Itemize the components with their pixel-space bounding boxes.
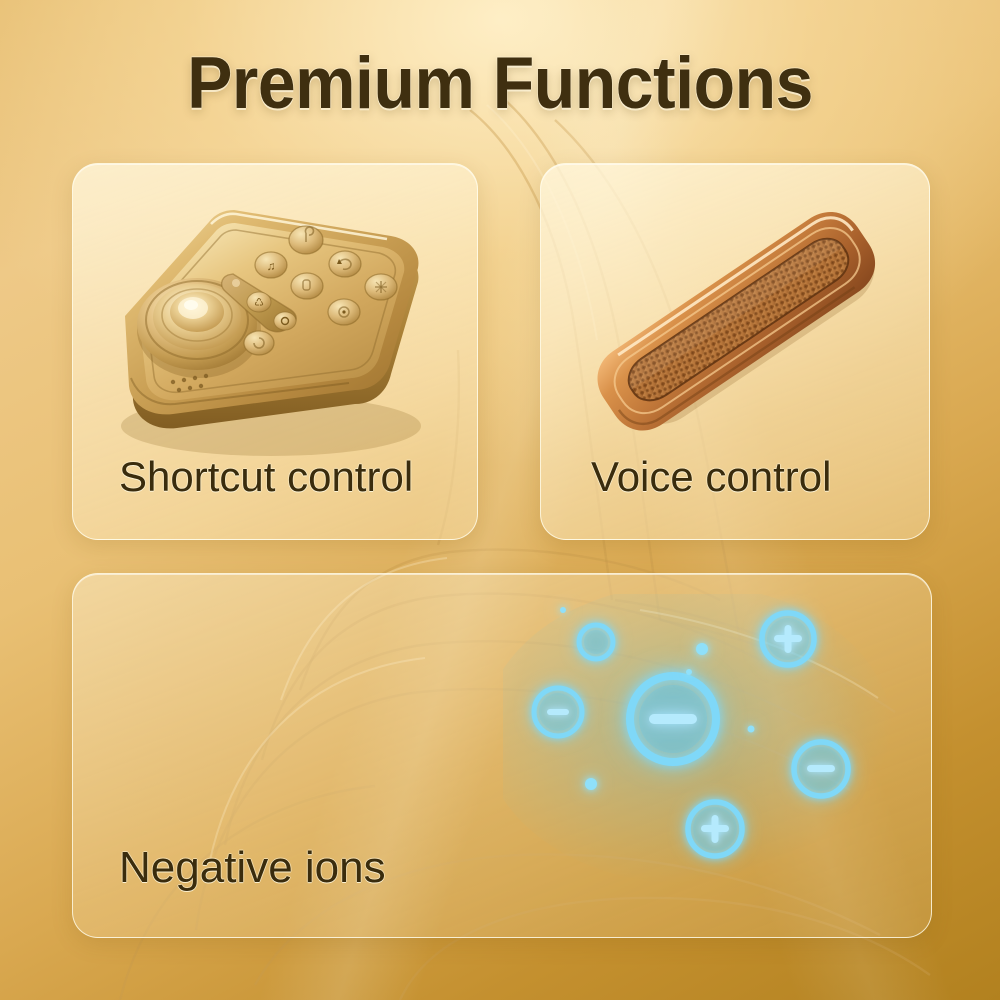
svg-text:♺: ♺ (254, 297, 264, 309)
card-label-shortcut-control: Shortcut control (119, 453, 413, 501)
card-voice-control[interactable]: Voice control (540, 163, 930, 540)
negative-ion-particles-icon (503, 594, 903, 894)
svg-text:♫: ♫ (267, 259, 276, 273)
speaker-grille-device-icon (553, 170, 923, 470)
infographic-canvas: Premium Functions (0, 0, 1000, 1000)
card-label-voice-control: Voice control (591, 453, 831, 501)
card-negative-ions[interactable]: Negative ions (72, 573, 932, 938)
card-label-negative-ions: Negative ions (119, 843, 386, 893)
remote-control-device-icon: ♺ ♫ (91, 178, 471, 478)
card-shortcut-control[interactable]: ♺ ♫ (72, 163, 478, 540)
page-title: Premium Functions (35, 42, 965, 125)
